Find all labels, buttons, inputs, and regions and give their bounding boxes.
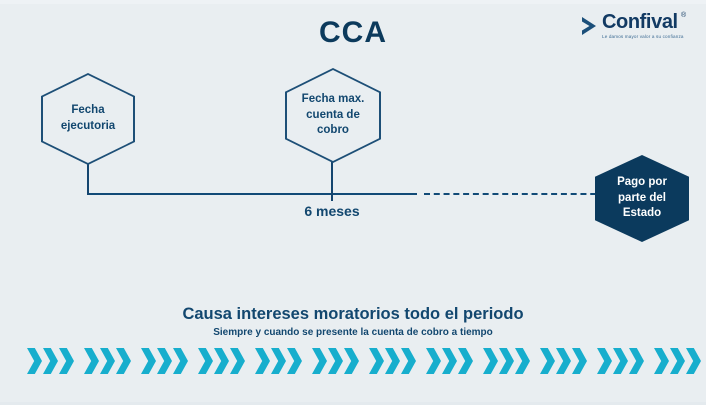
chevron-right-icon bbox=[483, 348, 498, 374]
logo-wordmark: Confival bbox=[602, 11, 678, 34]
hexagon-label-line3: cobro bbox=[302, 123, 365, 139]
caption-secondary: Siempre y cuando se presente la cuenta d… bbox=[0, 327, 706, 338]
chevron-right-icon bbox=[597, 348, 612, 374]
hexagon-label-line2: cuenta de bbox=[302, 108, 365, 124]
timeline-duration-label: 6 meses bbox=[264, 203, 400, 219]
chevron-right-icon bbox=[271, 348, 286, 374]
hexagon-inner-fill: Fecha max. cuenta de cobro bbox=[287, 70, 379, 161]
chevron-right-icon bbox=[540, 348, 555, 374]
chevron-right-icon bbox=[654, 348, 669, 374]
chevron-group bbox=[483, 348, 531, 374]
chevron-group bbox=[84, 348, 132, 374]
hexagon-inner-fill: Fecha ejecutoria bbox=[43, 75, 133, 163]
chevron-group bbox=[255, 348, 303, 374]
chevron-right-icon bbox=[385, 348, 400, 374]
hexagon-label-line1: Fecha max. bbox=[302, 92, 365, 108]
chevron-right-icon bbox=[100, 348, 115, 374]
chevron-right-icon bbox=[401, 348, 416, 374]
milestone-hexagon-fecha-max-cuenta-cobro[interactable]: Fecha max. cuenta de cobro bbox=[285, 68, 381, 163]
chevron-group bbox=[27, 348, 75, 374]
hexagon-label-line1: Pago por bbox=[617, 175, 667, 191]
chevron-right-icon bbox=[670, 348, 685, 374]
hexagon-label-line2: ejecutoria bbox=[61, 119, 115, 135]
hexagon-label-line2: parte del bbox=[617, 191, 667, 207]
logo-tagline: Le damos mayor valor a su confianza bbox=[602, 34, 684, 39]
milestone-hexagon-pago-estado[interactable]: Pago por parte del Estado bbox=[595, 155, 689, 242]
chevron-right-icon bbox=[287, 348, 302, 374]
chevron-group bbox=[198, 348, 246, 374]
timeline-connector-first bbox=[87, 160, 89, 195]
chevron-right-icon bbox=[328, 348, 343, 374]
chevron-group bbox=[426, 348, 474, 374]
confival-logo: Confival ® Le damos mayor valor a su con… bbox=[580, 11, 692, 47]
logo-registered-mark: ® bbox=[681, 12, 686, 19]
chevron-right-icon bbox=[312, 348, 327, 374]
chevron-right-icon bbox=[59, 348, 74, 374]
milestone-hexagon-fecha-ejecutoria[interactable]: Fecha ejecutoria bbox=[41, 73, 135, 165]
hexagon-label-group: Pago por parte del Estado bbox=[617, 175, 667, 222]
chevron-right-icon bbox=[157, 348, 172, 374]
chevron-right-icon bbox=[173, 348, 188, 374]
chevron-right-icon bbox=[43, 348, 58, 374]
hexagon-label-group: Fecha ejecutoria bbox=[61, 103, 115, 134]
chevron-right-icon bbox=[442, 348, 457, 374]
chevron-right-icon bbox=[686, 348, 701, 374]
chevron-right-icon bbox=[572, 348, 587, 374]
chevron-right-icon bbox=[141, 348, 156, 374]
chevron-right-icon bbox=[198, 348, 213, 374]
chevron-right-icon bbox=[27, 348, 42, 374]
chevron-right-icon bbox=[458, 348, 473, 374]
chevron-right-icon bbox=[613, 348, 628, 374]
hexagon-label-line1: Fecha bbox=[61, 103, 115, 119]
chevron-right-icon bbox=[255, 348, 270, 374]
timeline-solid-segment bbox=[88, 193, 417, 195]
chevron-right-icon bbox=[344, 348, 359, 374]
chevron-right-icon bbox=[426, 348, 441, 374]
chevron-right-icon bbox=[369, 348, 384, 374]
chevron-group bbox=[141, 348, 189, 374]
chevron-group bbox=[312, 348, 360, 374]
chevron-right-icon bbox=[84, 348, 99, 374]
chevron-arrow-band bbox=[27, 345, 672, 377]
chevron-group bbox=[597, 348, 645, 374]
caption-primary: Causa intereses moratorios todo el perio… bbox=[0, 305, 706, 324]
chevron-right-icon bbox=[515, 348, 530, 374]
chevron-right-icon bbox=[116, 348, 131, 374]
hexagon-label-line3: Estado bbox=[617, 206, 667, 222]
chevron-right-mark-icon bbox=[580, 15, 600, 37]
chevron-right-icon bbox=[556, 348, 571, 374]
chevron-group bbox=[369, 348, 417, 374]
top-edge-strip bbox=[0, 0, 706, 4]
chevron-group bbox=[540, 348, 588, 374]
timeline-connector-second bbox=[331, 158, 333, 201]
chevron-right-icon bbox=[230, 348, 245, 374]
slide-canvas: CCA Confival ® Le damos mayor valor a su… bbox=[0, 0, 706, 405]
chevron-right-icon bbox=[499, 348, 514, 374]
hexagon-label-group: Fecha max. cuenta de cobro bbox=[302, 92, 365, 139]
timeline-dashed-segment bbox=[424, 193, 606, 195]
chevron-group bbox=[654, 348, 702, 374]
chevron-right-icon bbox=[629, 348, 644, 374]
chevron-right-icon bbox=[214, 348, 229, 374]
